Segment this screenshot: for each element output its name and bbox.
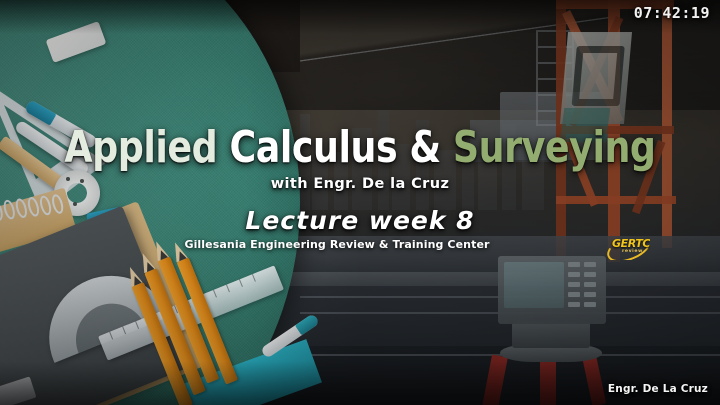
tripod-leg-right xyxy=(582,355,606,405)
instructor-subtitle: with Engr. De la Cruz xyxy=(0,176,720,192)
timestamp: 07:42:19 xyxy=(634,4,710,22)
title-part-calculus: Calculus xyxy=(229,122,409,173)
title-part-surveying: Surveying xyxy=(453,122,656,173)
video-frame: 07:42:19 Applied Calculus & Surveying wi… xyxy=(0,0,720,405)
background-photo xyxy=(0,0,720,405)
organization-name: Gillesania Engineering Review & Training… xyxy=(184,238,489,251)
instrument-neck xyxy=(512,322,590,348)
title-part-ampersand: & xyxy=(409,122,453,173)
tripod-leg-left xyxy=(482,354,508,405)
logo-tagline: review xyxy=(622,249,643,254)
instrument-display xyxy=(504,262,564,308)
title-block: Applied Calculus & Surveying xyxy=(0,126,720,170)
lecture-label: Lecture week 8 xyxy=(0,206,720,235)
page-title: Applied Calculus & Surveying xyxy=(29,126,691,170)
presenter-watermark: Engr. De La Cruz xyxy=(608,383,708,395)
instrument-keypad xyxy=(568,262,600,314)
tripod-leg-center xyxy=(540,356,556,405)
gertc-logo-icon: GERTC review xyxy=(606,234,650,260)
title-part-applied: Applied xyxy=(64,122,229,173)
total-station-body xyxy=(498,256,606,324)
